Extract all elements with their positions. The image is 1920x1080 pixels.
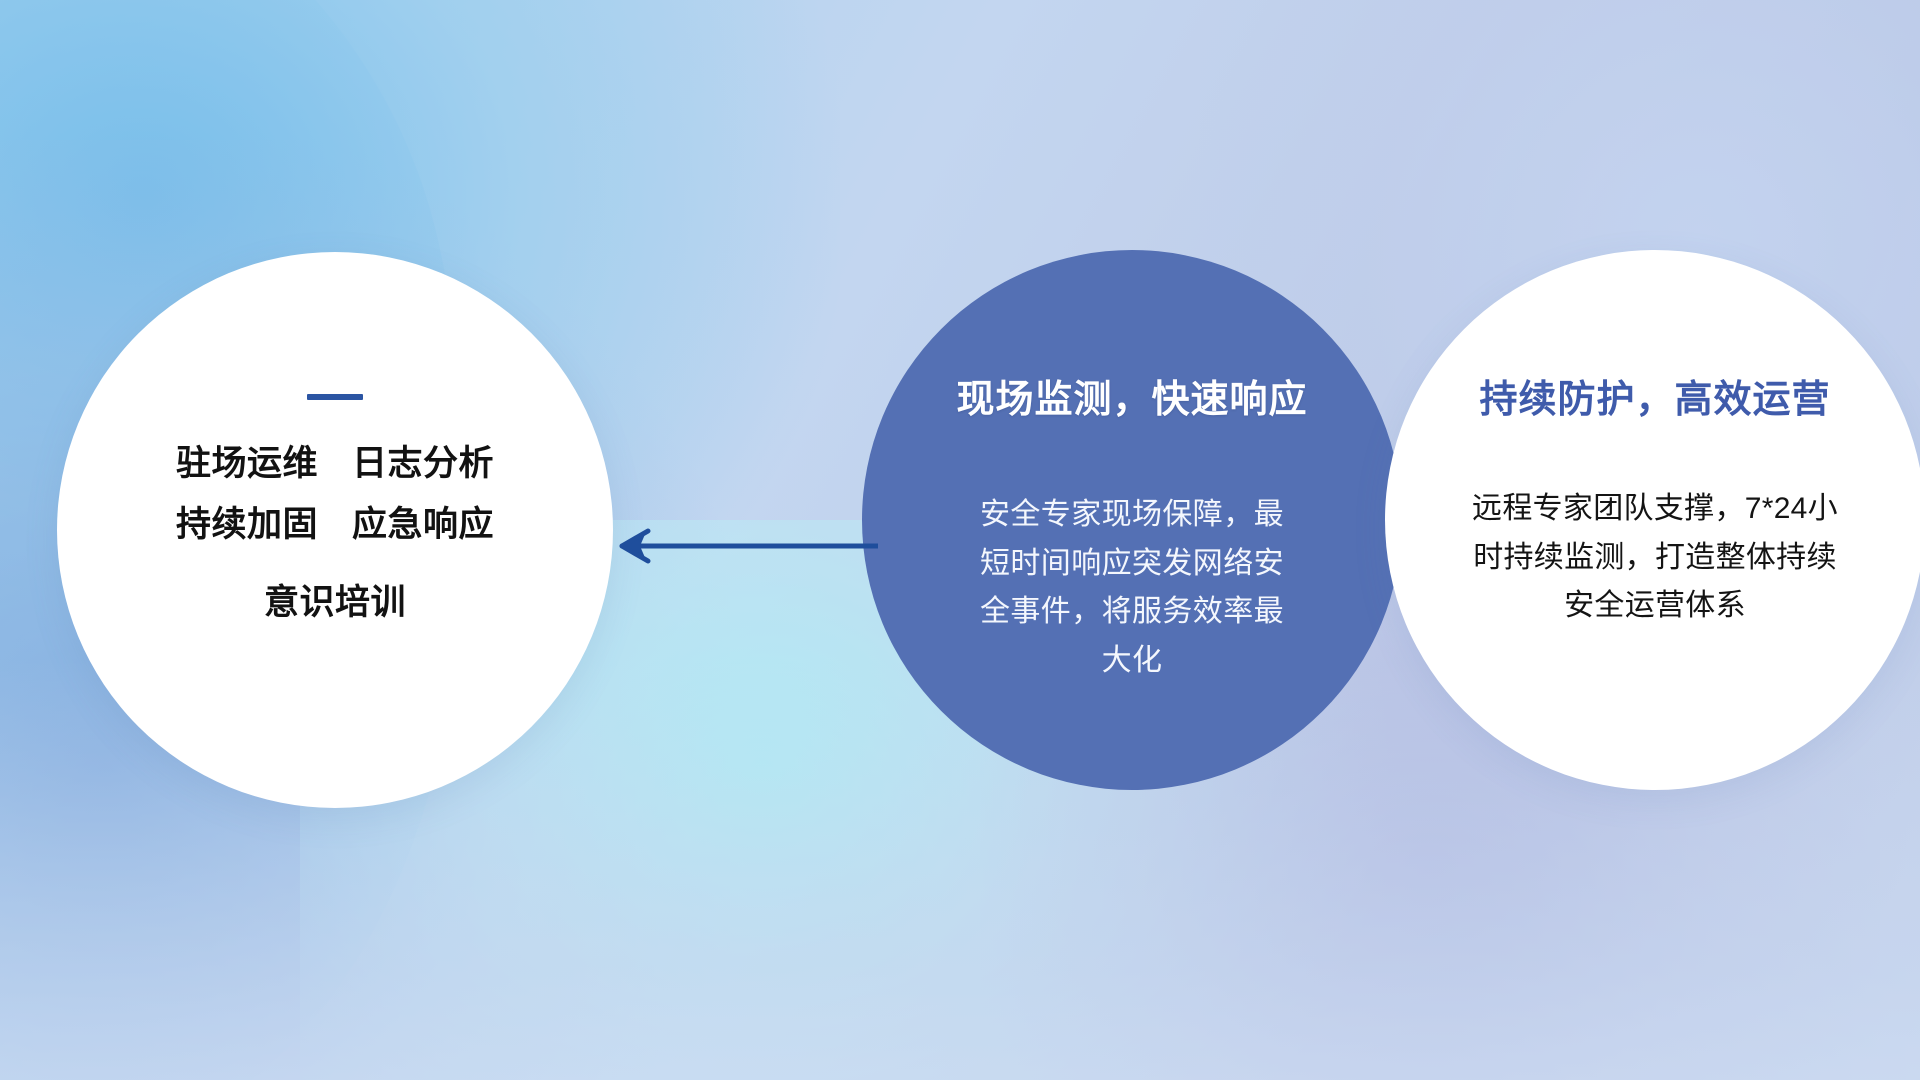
continuous-protection-title: 持续防护，高效运营 [1479,368,1830,423]
slide-canvas: 现场监测，快速响应 安全专家现场保障，最短时间响应突发网络安全事件，将服务效率最… [0,0,1920,1080]
service-tag-row: 意识培训 [57,575,613,632]
continuous-protection-body: 远程专家团队支撑，7*24小时持续监测，打造整体持续安全运营体系 [1465,485,1845,631]
onsite-monitoring-circle: 现场监测，快速响应 安全专家现场保障，最短时间响应突发网络安全事件，将服务效率最… [862,250,1402,790]
arrow-left-icon [600,518,880,574]
continuous-protection-circle: 持续防护，高效运营 远程专家团队支撑，7*24小时持续监测，打造整体持续安全运营… [1385,250,1920,790]
service-tag-row: 驻场运维日志分析 [57,436,613,493]
service-tag: 持续加固 [176,505,318,544]
service-tag-row: 持续加固应急响应 [57,497,613,554]
horizontal-dash-divider-icon [307,394,363,400]
onsite-monitoring-body: 安全专家现场保障，最短时间响应突发网络安全事件，将服务效率最大化 [967,491,1297,685]
service-tag-list: 驻场运维日志分析 持续加固应急响应 意识培训 [57,436,613,632]
onsite-services-circle: 驻场运维日志分析 持续加固应急响应 意识培训 [57,252,613,808]
service-tag: 应急响应 [352,505,494,544]
service-tag: 驻场运维 [176,444,318,483]
onsite-monitoring-title: 现场监测，快速响应 [956,368,1307,423]
service-tag: 日志分析 [352,444,494,483]
service-tag: 意识培训 [264,583,406,622]
